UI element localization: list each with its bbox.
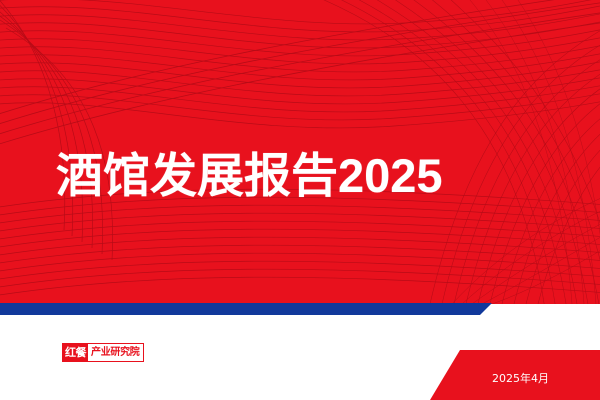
hero-red-panel: 酒馆发展报告2025	[0, 0, 600, 304]
cover-slide: 酒馆发展报告2025 红餐 产业研究院 2025年4月	[0, 0, 600, 400]
logo-wordmark-text: 产业研究院	[88, 344, 143, 361]
page-title: 酒馆发展报告2025	[56, 148, 443, 204]
blue-accent-bar	[0, 303, 600, 315]
logo: 红餐 产业研究院	[62, 343, 144, 362]
date-label: 2025年4月	[492, 372, 549, 386]
logo-mark-text: 红餐	[63, 344, 88, 361]
